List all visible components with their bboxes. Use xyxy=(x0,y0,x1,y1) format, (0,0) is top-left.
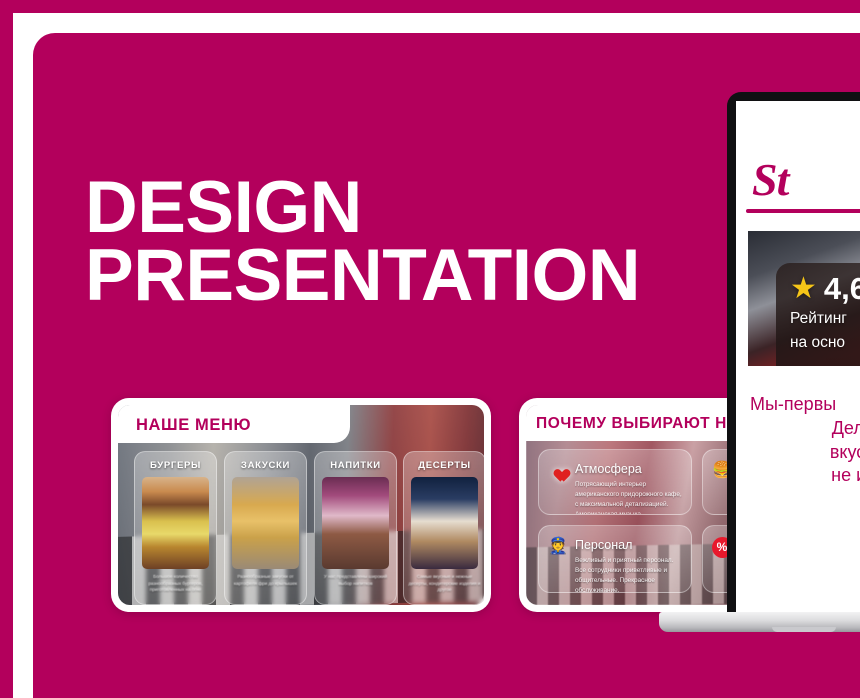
snack-image xyxy=(232,477,299,569)
feature-desc: Потрясающий интерьер американского придо… xyxy=(575,480,686,515)
promo-line-3: вкусные xyxy=(750,441,860,465)
burger-image xyxy=(142,477,209,569)
feature-name: Персонал xyxy=(575,538,632,552)
rating-value: 4,6 xyxy=(824,273,860,304)
feature-staff[interactable]: 👮 Персонал Вежливый и приятный персонал.… xyxy=(538,525,692,593)
slide-canvas: DESIGN PRESENTATION БУРГЕРЫ Большое коли… xyxy=(0,0,860,698)
title-line-2: PRESENTATION xyxy=(85,242,640,310)
staff-icon: 👮 xyxy=(547,536,569,558)
menu-tile-desc: Самые вкусные и нежные десерты, кондитер… xyxy=(408,574,481,594)
menu-tile-desserts[interactable]: ДЕСЕРТЫ Самые вкусные и нежные десерты, … xyxy=(403,451,484,605)
laptop-mockup: St ★ 4,6 Рейтинг на осно Мы-первы Делаем xyxy=(727,92,860,652)
promo-line-4: не изме xyxy=(750,464,860,488)
menu-tile-label: БУРГЕРЫ xyxy=(135,460,216,471)
page-title: DESIGN PRESENTATION xyxy=(85,106,640,378)
menu-card-title: НАШЕ МЕНЮ xyxy=(136,416,251,435)
feature-desc: Вежливый и приятный персонал. Все сотруд… xyxy=(575,556,686,593)
promo-text: Мы-первы Делаем вкусные не изме xyxy=(750,393,860,488)
menu-tile-label: ЗАКУСКИ xyxy=(225,460,306,471)
laptop-lid: St ★ 4,6 Рейтинг на осно Мы-первы Делаем xyxy=(727,92,860,612)
hero-photo: ★ 4,6 Рейтинг на осно xyxy=(748,231,860,366)
menu-card-inner: БУРГЕРЫ Большое количество разнообразных… xyxy=(118,405,484,605)
logo-underline xyxy=(746,209,860,213)
why-card-title: ПОЧЕМУ ВЫБИРАЮТ Н xyxy=(536,415,727,433)
menu-tile-desc: Большое количество разнообразных бургеро… xyxy=(139,574,212,594)
promo-line-2: Делаем xyxy=(750,417,860,441)
drink-image xyxy=(322,477,389,569)
menu-tile-snacks[interactable]: ЗАКУСКИ Разнообразные закуски от картофе… xyxy=(224,451,307,605)
promo-line-1: Мы-первы xyxy=(750,393,860,417)
rating-row: ★ 4,6 xyxy=(790,273,860,304)
menu-tile-label: НАПИТКИ xyxy=(315,460,396,471)
menu-tile-drinks[interactable]: НАПИТКИ У нас представлены широкий выбор… xyxy=(314,451,397,605)
heart-icon xyxy=(547,460,569,482)
star-icon: ★ xyxy=(790,274,817,304)
menu-card-header: НАШЕ МЕНЮ xyxy=(118,405,350,443)
rating-caption-2: на осно xyxy=(790,333,860,352)
menu-tile-label: ДЕСЕРТЫ xyxy=(404,460,484,471)
feature-name: Атмосфера xyxy=(575,462,642,476)
rating-caption-1: Рейтинг xyxy=(790,309,860,328)
menu-tile-desc: У нас представлены широкий выбор напитко… xyxy=(319,574,392,587)
menu-tile-desc: Разнообразные закуски от картофеля фри д… xyxy=(229,574,302,587)
dessert-image xyxy=(411,477,478,569)
feature-atmosphere[interactable]: Атмосфера Потрясающий интерьер американс… xyxy=(538,449,692,515)
laptop-screen[interactable]: St ★ 4,6 Рейтинг на осно Мы-первы Делаем xyxy=(736,101,860,612)
rating-panel: ★ 4,6 Рейтинг на осно xyxy=(776,263,860,366)
site-logo: St xyxy=(752,153,788,206)
menu-tile-burgers[interactable]: БУРГЕРЫ Большое количество разнообразных… xyxy=(134,451,217,605)
laptop-base xyxy=(659,612,860,632)
menu-preview-card[interactable]: БУРГЕРЫ Большое количество разнообразных… xyxy=(111,398,491,612)
